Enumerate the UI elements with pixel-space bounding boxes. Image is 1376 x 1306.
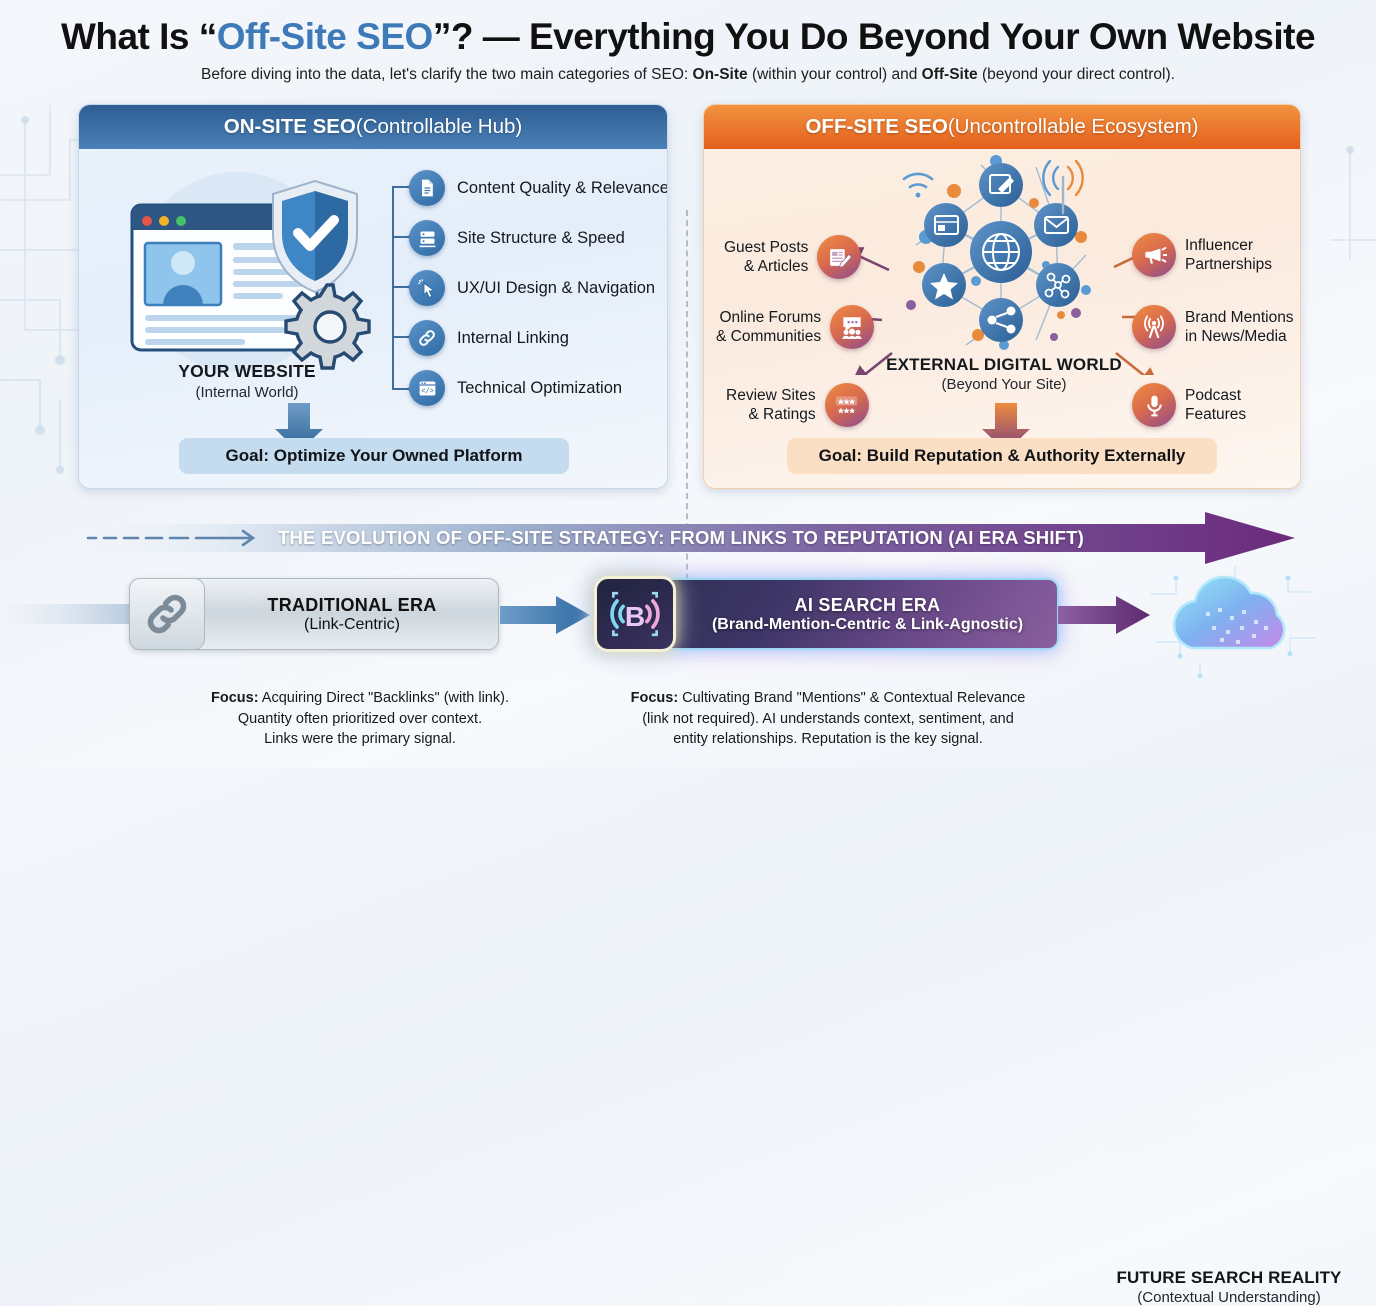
- cursor-click-icon: [409, 270, 445, 306]
- caption-line-3: entity relationships. Reputation is the …: [588, 729, 1068, 750]
- page-subtitle: Before diving into the data, let's clari…: [0, 66, 1376, 84]
- external-world-caption: EXTERNAL DIGITAL WORLD (Beyond Your Site…: [844, 355, 1164, 393]
- caption-line-2: (link not required). AI understands cont…: [588, 709, 1068, 730]
- onsite-header-main: ON-SITE SEO: [224, 115, 356, 139]
- caption-line-1: Focus: Acquiring Direct "Backlinks" (wit…: [130, 688, 590, 709]
- onsite-goal-bar: Goal: Optimize Your Owned Platform: [179, 438, 569, 474]
- evolution-banner-text: THE EVOLUTION OF OFF-SITE STRATEGY: FROM…: [278, 527, 1084, 549]
- onsite-item[interactable]: Internal Linking: [409, 313, 659, 363]
- caption-line-1: Focus: Cultivating Brand "Mentions" & Co…: [588, 688, 1068, 709]
- offsite-header-main: OFF-SITE SEO: [805, 115, 947, 139]
- onsite-item-label: Technical Optimization: [457, 379, 622, 398]
- offsite-node-label: Guest Posts & Articles: [724, 238, 808, 277]
- label-line-1: Review Sites: [726, 386, 816, 405]
- caption-line-3: Links were the primary signal.: [130, 729, 590, 750]
- offsite-node-label: Review Sites & Ratings: [726, 386, 816, 425]
- your-website-illustration: [97, 157, 397, 387]
- label-line-2: & Articles: [724, 257, 808, 276]
- offsite-node-label: Online Forums & Communities: [716, 308, 821, 347]
- offsite-node-brand-mentions[interactable]: Brand Mentions in News/Media: [1132, 305, 1294, 349]
- onsite-item[interactable]: Content Quality & Relevance: [409, 163, 659, 213]
- timeline-arrow-2: [1058, 596, 1150, 634]
- document-icon: [409, 170, 445, 206]
- evolution-banner: THE EVOLUTION OF OFF-SITE STRATEGY: FROM…: [80, 512, 1295, 564]
- future-reality-caption: FUTURE SEARCH REALITY (Contextual Unders…: [1096, 1268, 1362, 1306]
- timeline-arrow-1: [500, 596, 590, 634]
- offsite-goal-bar: Goal: Build Reputation & Authority Exter…: [787, 438, 1217, 474]
- community-chat-icon: [830, 305, 874, 349]
- offsite-node-label: Influencer Partnerships: [1185, 236, 1272, 275]
- onsite-header-sub: (Controllable Hub): [356, 115, 522, 139]
- onsite-item[interactable]: </> Technical Optimization: [409, 363, 659, 413]
- timeline: TRADITIONAL ERA (Link-Centric) B AI SEAR…: [0, 578, 1376, 768]
- page-title: What Is “Off-Site SEO”? — Everything You…: [0, 0, 1376, 57]
- label-line-2: Partnerships: [1185, 255, 1272, 274]
- chain-link-icon: [129, 578, 205, 650]
- onsite-panel: ON-SITE SEO (Controllable Hub): [78, 104, 668, 489]
- ai-era-subtitle: (Brand-Mention-Centric & Link-Agnostic): [712, 616, 1023, 634]
- onsite-item[interactable]: UX/UI Design & Navigation: [409, 263, 659, 313]
- ai-era-title: AI SEARCH ERA: [795, 595, 941, 616]
- focus-text: Cultivating Brand "Mentions" & Contextua…: [678, 690, 1025, 706]
- onsite-item[interactable]: Site Structure & Speed: [409, 213, 659, 263]
- onsite-item-label: Content Quality & Relevance: [457, 179, 668, 198]
- panels-container: ON-SITE SEO (Controllable Hub): [0, 104, 1376, 494]
- timeline-leading-stub: [0, 600, 132, 628]
- focus-text: Acquiring Direct "Backlinks" (with link)…: [259, 690, 509, 706]
- ai-era-text: AI SEARCH ERA (Brand-Mention-Centric & L…: [676, 578, 1059, 650]
- offsite-goal-text: Goal: Build Reputation & Authority Exter…: [819, 446, 1186, 466]
- onsite-items-list: Content Quality & Relevance Site Structu…: [409, 163, 659, 413]
- offsite-panel: OFF-SITE SEO (Uncontrollable Ecosystem): [703, 104, 1301, 489]
- onsite-item-label: Site Structure & Speed: [457, 229, 625, 248]
- label-line-1: Online Forums: [716, 308, 821, 327]
- label-line-2: & Ratings: [726, 405, 816, 424]
- label-line-2: Features: [1185, 405, 1246, 424]
- caption-line-2: Quantity often prioritized over context.: [130, 709, 590, 730]
- svg-text:B: B: [625, 601, 645, 632]
- ai-era-caption: Focus: Cultivating Brand "Mentions" & Co…: [588, 688, 1068, 750]
- traditional-era-caption: Focus: Acquiring Direct "Backlinks" (wit…: [130, 688, 590, 750]
- offsite-node-online-forums[interactable]: Online Forums & Communities: [716, 305, 874, 349]
- label-line-2: in News/Media: [1185, 327, 1294, 346]
- svg-text:</>: </>: [421, 387, 434, 395]
- focus-label: Focus:: [211, 690, 259, 706]
- link-icon: [409, 320, 445, 356]
- traditional-era-subtitle: (Link-Centric): [304, 616, 400, 634]
- your-website-caption: YOUR WEBSITE (Internal World): [97, 361, 397, 401]
- offsite-panel-header: OFF-SITE SEO (Uncontrollable Ecosystem): [704, 105, 1300, 149]
- your-website-subtitle: (Internal World): [97, 384, 397, 401]
- label-line-1: Podcast: [1185, 386, 1246, 405]
- label-line-1: Influencer: [1185, 236, 1272, 255]
- megaphone-icon: [1132, 233, 1176, 277]
- label-line-1: Guest Posts: [724, 238, 808, 257]
- focus-label: Focus:: [631, 690, 679, 706]
- title-accent: Off-Site SEO: [217, 16, 433, 57]
- onsite-item-label: Internal Linking: [457, 329, 569, 348]
- gear-icon: [286, 285, 369, 368]
- evolution-banner-text-wrap: THE EVOLUTION OF OFF-SITE STRATEGY: FROM…: [278, 512, 1084, 564]
- label-line-1: Brand Mentions: [1185, 308, 1294, 327]
- subtitle-part-3: (beyond your direct control).: [978, 66, 1175, 83]
- onsite-goal-text: Goal: Optimize Your Owned Platform: [226, 446, 523, 466]
- title-pre: What Is “: [61, 16, 217, 57]
- onsite-item-label: UX/UI Design & Navigation: [457, 279, 655, 298]
- future-reality-subtitle: (Contextual Understanding): [1096, 1289, 1362, 1306]
- offsite-node-label: Podcast Features: [1185, 386, 1246, 425]
- server-icon: [409, 220, 445, 256]
- your-website-title: YOUR WEBSITE: [97, 361, 397, 382]
- broadcast-tower-icon: [1132, 305, 1176, 349]
- offsite-header-sub: (Uncontrollable Ecosystem): [948, 115, 1199, 139]
- brand-signal-icon: B: [594, 576, 676, 652]
- subtitle-part-2: (within your control) and: [748, 66, 922, 83]
- onsite-panel-header: ON-SITE SEO (Controllable Hub): [79, 105, 667, 149]
- digital-cloud-icon: [1140, 564, 1330, 679]
- wifi-glyph: [904, 174, 932, 197]
- external-world-subtitle: (Beyond Your Site): [844, 376, 1164, 393]
- subtitle-bold-onsite: On-Site: [693, 66, 748, 83]
- article-pencil-icon: [817, 235, 861, 279]
- offsite-node-label: Brand Mentions in News/Media: [1185, 308, 1294, 347]
- code-window-icon: </>: [409, 370, 445, 406]
- external-world-title: EXTERNAL DIGITAL WORLD: [844, 355, 1164, 375]
- offsite-node-guest-posts[interactable]: Guest Posts & Articles: [724, 235, 861, 279]
- future-reality-title: FUTURE SEARCH REALITY: [1096, 1268, 1362, 1288]
- offsite-node-influencer[interactable]: Influencer Partnerships: [1132, 233, 1272, 277]
- traditional-era-text: TRADITIONAL ERA (Link-Centric): [205, 578, 499, 650]
- title-post: ”? — Everything You Do Beyond Your Own W…: [433, 16, 1315, 57]
- subtitle-part-1: Before diving into the data, let's clari…: [201, 66, 692, 83]
- external-network-illustration: [886, 145, 1116, 360]
- subtitle-bold-offsite: Off-Site: [922, 66, 978, 83]
- label-line-2: & Communities: [716, 327, 821, 346]
- traditional-era-title: TRADITIONAL ERA: [267, 595, 436, 616]
